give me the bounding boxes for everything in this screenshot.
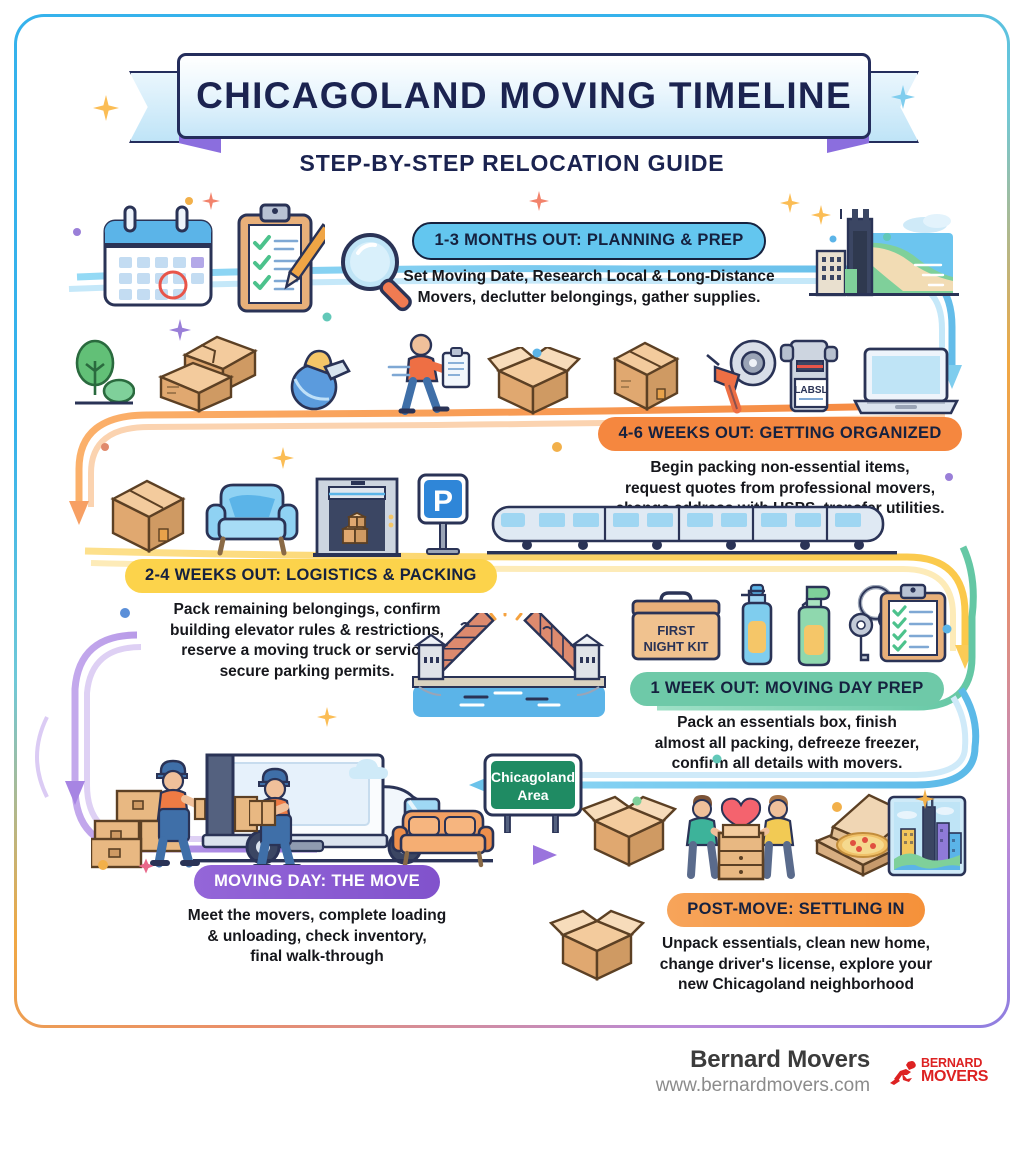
bernard-movers-logo[interactable]: BERNARD MOVERS bbox=[888, 1058, 988, 1084]
logo-wordmark: BERNARD MOVERS bbox=[921, 1058, 988, 1084]
poster-canvas: CHICAGOLAND MOVING TIMELINE STEP-BY-STEP… bbox=[17, 17, 1007, 1025]
decorative-dots bbox=[17, 17, 1007, 1025]
sparkle-icon bbox=[915, 789, 935, 809]
sparkle-icon bbox=[169, 319, 191, 341]
sparkle-icon bbox=[272, 447, 294, 469]
footer: Bernard Movers www.bernardmovers.com BER… bbox=[0, 1046, 1024, 1097]
sparkle-icon bbox=[317, 707, 337, 727]
cross-sparkle-icon bbox=[137, 857, 155, 875]
sparkle-icon bbox=[529, 191, 549, 211]
brand-text: Bernard Movers www.bernardmovers.com bbox=[656, 1046, 870, 1097]
gradient-frame: CHICAGOLAND MOVING TIMELINE STEP-BY-STEP… bbox=[14, 14, 1010, 1028]
brand-website[interactable]: www.bernardmovers.com bbox=[656, 1075, 870, 1097]
brand-name: Bernard Movers bbox=[656, 1046, 870, 1074]
running-figure-icon bbox=[888, 1059, 918, 1085]
infographic-poster: CHICAGOLAND MOVING TIMELINE STEP-BY-STEP… bbox=[0, 0, 1024, 1154]
logo-line2: MOVERS bbox=[921, 1070, 988, 1085]
